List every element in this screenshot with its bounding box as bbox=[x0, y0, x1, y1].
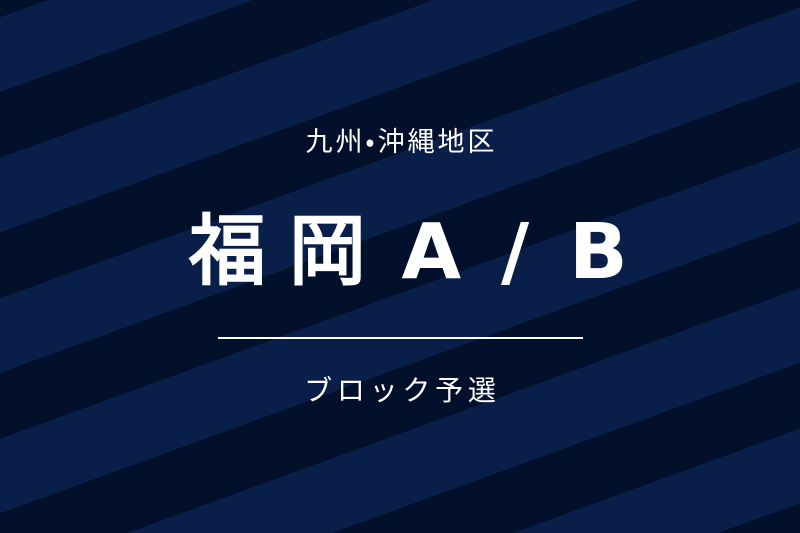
round-label: ブロック予選 bbox=[299, 377, 500, 405]
page-title: 福岡 A / B bbox=[166, 214, 635, 291]
tournament-title-card: 九州・沖縄地区 福岡 A / B ブロック予選 bbox=[0, 0, 800, 533]
region-label: 九州・沖縄地区 bbox=[303, 129, 498, 156]
title-groups: A / B bbox=[389, 214, 634, 291]
divider bbox=[218, 337, 583, 339]
title-card-content: 九州・沖縄地区 福岡 A / B ブロック予選 bbox=[0, 129, 800, 405]
title-venue: 福岡 bbox=[166, 214, 389, 291]
